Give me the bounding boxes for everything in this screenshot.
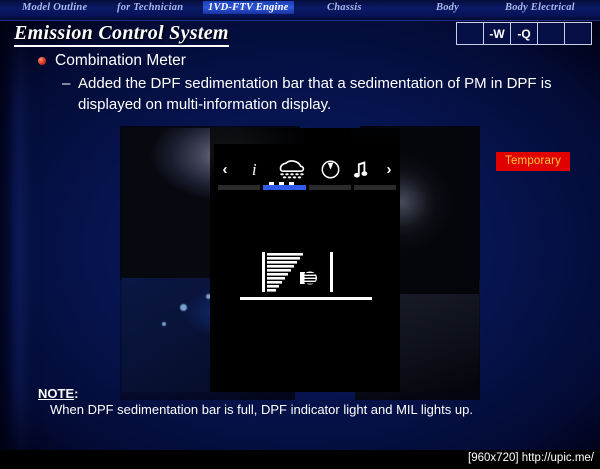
dpf-vehicle-icon[interactable] xyxy=(276,158,306,180)
chevron-right-icon[interactable]: › xyxy=(382,162,396,177)
code-box-4 xyxy=(538,23,565,44)
tab-chassis[interactable]: Chassis xyxy=(327,2,362,13)
display-segment-4[interactable] xyxy=(354,185,396,190)
note-label-colon: : xyxy=(74,386,78,401)
bullet-combination-meter: Combination Meter xyxy=(38,52,186,70)
bullet-dpf-description: – Added the DPF sedimentation bar that a… xyxy=(62,73,590,115)
code-box-1 xyxy=(457,23,484,44)
code-box-2: -W xyxy=(484,23,511,44)
tab-model-outline[interactable]: Model Outline xyxy=(22,2,87,13)
watermark-text: [960x720] http://upic.me/ xyxy=(468,452,594,464)
display-segment-2-active[interactable] xyxy=(263,185,305,190)
bullet-combination-meter-label: Combination Meter xyxy=(55,52,186,70)
page-title: Emission Control System xyxy=(14,22,229,47)
bullet-dot-icon xyxy=(38,57,46,65)
dash-marker-icon: – xyxy=(62,73,70,94)
circuit-light-3 xyxy=(162,322,166,326)
illustration-panel: ‹ i xyxy=(122,128,479,392)
tab-1vd-ftv-engine[interactable]: 1VD-FTV Engine xyxy=(203,1,294,14)
display-tab-segments xyxy=(218,185,396,190)
code-box-3: -Q xyxy=(511,23,538,44)
slide-root: Model Outline for Technician 1VD-FTV Eng… xyxy=(0,0,600,469)
section-tabbar: Model Outline for Technician 1VD-FTV Eng… xyxy=(0,0,600,21)
code-box-5 xyxy=(565,23,591,44)
tab-body[interactable]: Body xyxy=(436,2,459,13)
gauge-icon[interactable] xyxy=(321,160,340,179)
display-segment-1[interactable] xyxy=(218,185,260,190)
display-icon-row: ‹ i xyxy=(214,154,400,184)
circuit-light-1 xyxy=(180,304,187,311)
information-icon[interactable]: i xyxy=(246,161,262,178)
tab-for-technician[interactable]: for Technician xyxy=(117,2,183,13)
background-left-edge xyxy=(0,0,12,450)
multi-information-display: ‹ i xyxy=(214,144,400,324)
note-label: NOTE: xyxy=(38,386,78,401)
dpf-sedimentation-bar-graphic xyxy=(240,250,372,308)
section-title-row: Emission Control System -W -Q xyxy=(0,20,600,48)
note-text: When DPF sedimentation bar is full, DPF … xyxy=(50,402,473,417)
display-segment-3[interactable] xyxy=(309,185,351,190)
status-badge-temporary: Temporary xyxy=(496,152,570,171)
note-label-text: NOTE xyxy=(38,386,74,401)
tab-body-electrical[interactable]: Body Electrical xyxy=(505,2,575,13)
background-light-streak xyxy=(8,0,42,450)
code-box-group: -W -Q xyxy=(456,22,592,45)
footer-bar: [960x720] http://upic.me/ xyxy=(0,450,600,469)
music-note-icon[interactable] xyxy=(354,160,368,179)
bullet-dpf-description-text: Added the DPF sedimentation bar that a s… xyxy=(78,73,590,115)
chevron-left-icon[interactable]: ‹ xyxy=(218,162,232,177)
